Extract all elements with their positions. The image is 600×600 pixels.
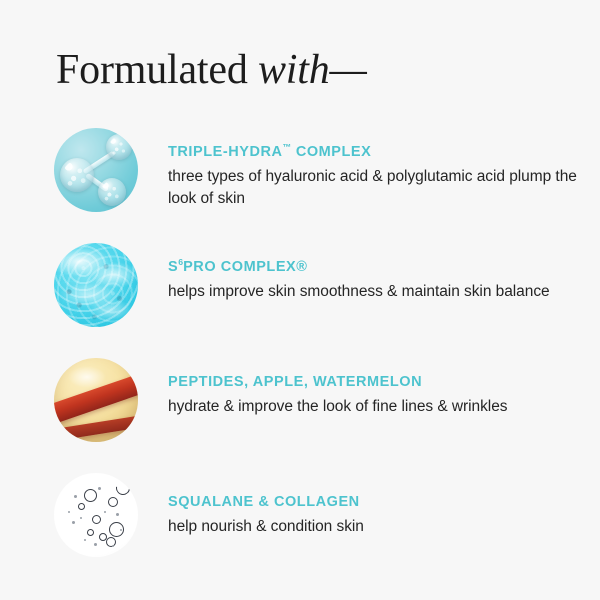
ingredient-description: three types of hyaluronic acid & polyglu… [168, 166, 600, 209]
ingredient-name: TRIPLE-HYDRA™ COMPLEX [168, 142, 600, 162]
ingredient-copy: PEPTIDES, APPLE, WATERMELON hydrate & im… [138, 358, 600, 418]
ingredient-name-main: TRIPLE-HYDRA [168, 144, 283, 160]
cyan-gel-swirl-thumbnail-icon [54, 243, 138, 327]
bubble-dot-icon [104, 511, 106, 513]
molecule-beads-aqua-thumbnail-icon [54, 128, 138, 212]
ingredients-infographic: Formulated with— TRIPLE-HYDRA™ COMPLEX t… [0, 0, 600, 600]
white-bubbles-thumbnail-icon [54, 473, 138, 557]
apple-gloss-icon [68, 366, 106, 388]
ingredient-name: PEPTIDES, APPLE, WATERMELON [168, 372, 600, 392]
bubble-dot-icon [84, 539, 86, 541]
ingredient-copy: TRIPLE-HYDRA™ COMPLEX three types of hya… [138, 128, 600, 209]
bubble-icon [87, 529, 94, 536]
bubble-arc-icon [113, 478, 132, 497]
bubble-dot-icon [112, 545, 114, 547]
ingredient-name-tail: PRO COMPLEX® [183, 259, 307, 275]
bubble-dot-icon [94, 543, 97, 546]
apple-sphere-thumbnail-icon [54, 358, 138, 442]
ingredient-name-main: PEPTIDES, APPLE, WATERMELON [168, 374, 422, 390]
ingredient-copy: S6PRO COMPLEX® helps improve skin smooth… [138, 243, 600, 303]
molecule-bead-icon [98, 178, 126, 206]
list-item: PEPTIDES, APPLE, WATERMELON hydrate & im… [0, 358, 600, 442]
bubble-icon [84, 489, 97, 502]
footer-spacer [0, 570, 600, 600]
bubble-dot-icon [68, 511, 70, 513]
page-title: Formulated with— [56, 46, 367, 94]
ingredient-description: help nourish & condition skin [168, 516, 600, 538]
bubble-icon [92, 515, 101, 524]
ingredient-name-tail: COMPLEX [291, 144, 371, 160]
bubble-icon [106, 537, 116, 547]
bubble-icon [78, 503, 85, 510]
ingredient-copy: SQUALANE & COLLAGEN help nourish & condi… [138, 492, 600, 538]
ingredient-name: S6PRO COMPLEX® [168, 257, 600, 277]
list-item: TRIPLE-HYDRA™ COMPLEX three types of hya… [0, 128, 600, 212]
ingredient-name: SQUALANE & COLLAGEN [168, 492, 600, 512]
bubble-dot-icon [98, 487, 101, 490]
ingredient-description: helps improve skin smoothness & maintain… [168, 281, 600, 303]
ingredient-name-main: S [168, 259, 178, 275]
molecule-bead-icon [60, 158, 94, 192]
list-item: SQUALANE & COLLAGEN help nourish & condi… [0, 473, 600, 557]
page-title-regular: Formulated [56, 47, 258, 93]
bubble-dot-icon [72, 521, 75, 524]
bubble-icon [108, 497, 118, 507]
page-title-italic: with— [258, 47, 367, 93]
bubble-dot-icon [74, 495, 77, 498]
trademark-symbol: ™ [283, 142, 292, 152]
ingredient-list: TRIPLE-HYDRA™ COMPLEX three types of hya… [0, 128, 600, 588]
bubble-dot-icon [120, 529, 122, 531]
ingredient-description: hydrate & improve the look of fine lines… [168, 396, 600, 418]
bubble-dot-icon [80, 517, 82, 519]
list-item: S6PRO COMPLEX® helps improve skin smooth… [0, 243, 600, 327]
ingredient-name-main: SQUALANE & COLLAGEN [168, 494, 360, 510]
molecule-bead-icon [106, 134, 132, 160]
bubble-dot-icon [116, 513, 119, 516]
